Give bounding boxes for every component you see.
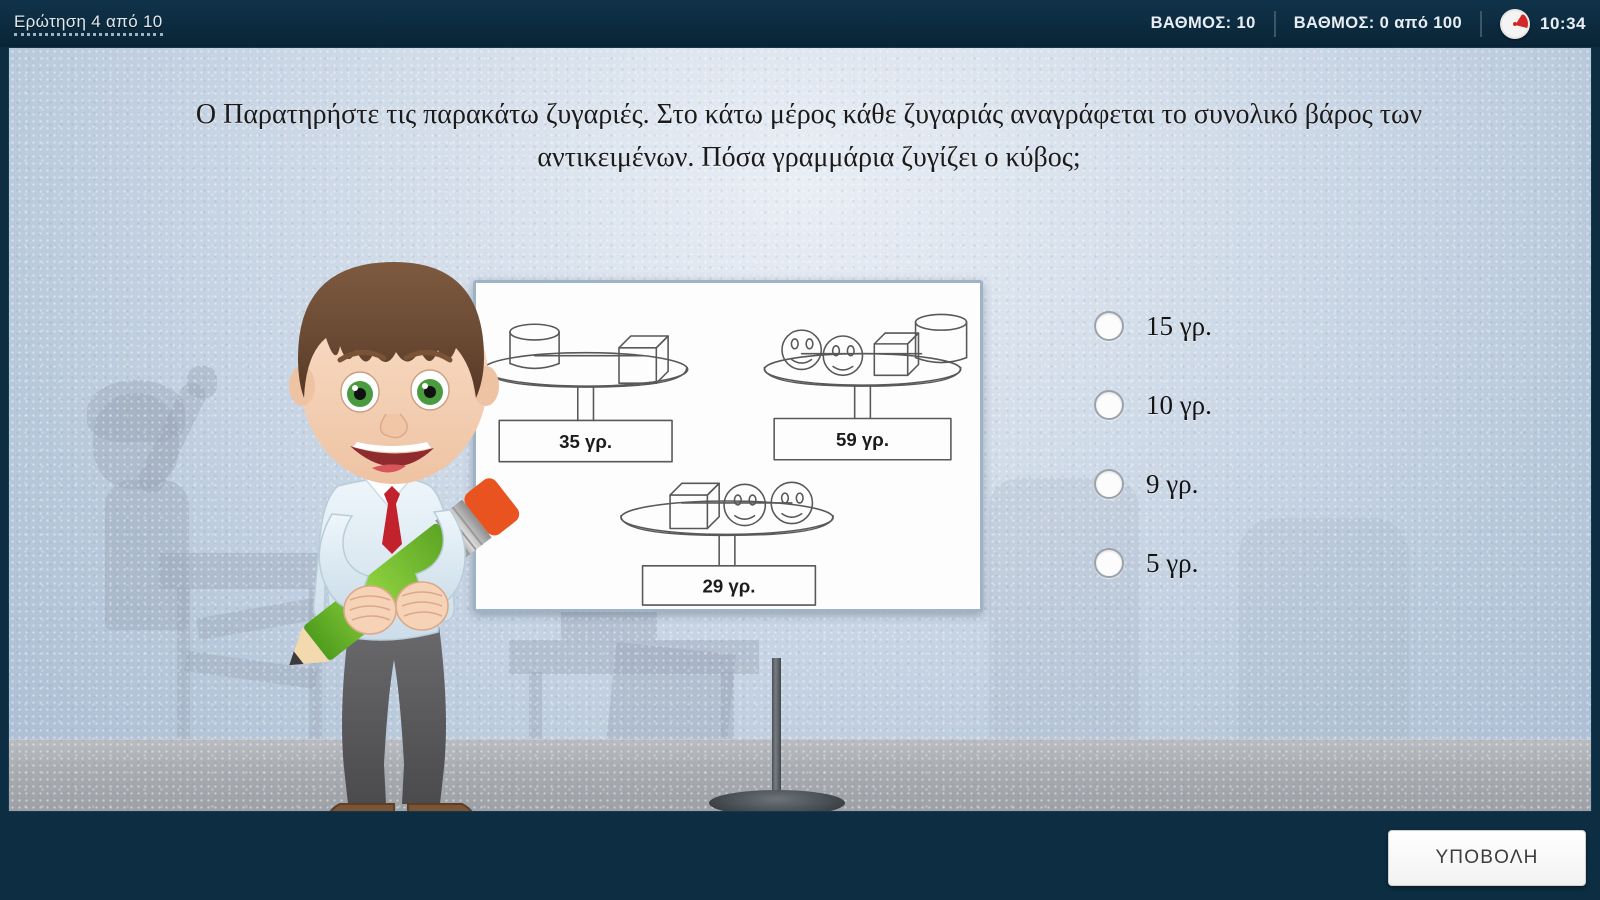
- answer-option-1-label: 15 γρ.: [1146, 311, 1212, 342]
- cube: [670, 483, 719, 528]
- answer-option-4[interactable]: 5 γρ.: [1094, 535, 1424, 591]
- answer-option-2-label: 10 γρ.: [1146, 390, 1212, 421]
- background-silhouette-desk: [509, 640, 759, 674]
- background-silhouette-student: [187, 366, 217, 398]
- question-text: Ο Παρατηρήστε τις παρακάτω ζυγαριές. Στο…: [159, 94, 1459, 179]
- radio-button-2[interactable]: [1094, 390, 1124, 420]
- answer-option-3-label: 9 γρ.: [1146, 469, 1198, 500]
- submit-button[interactable]: ΥΠΟΒΟΛΗ: [1388, 830, 1586, 886]
- answer-option-4-label: 5 γρ.: [1146, 548, 1198, 579]
- radio-button-4[interactable]: [1094, 548, 1124, 578]
- cartoon-boy-character: [254, 218, 544, 812]
- scale-2-weight-label: 59 γρ.: [836, 429, 889, 450]
- timer-value: 10:34: [1540, 14, 1586, 34]
- radio-button-1[interactable]: [1094, 311, 1124, 341]
- answer-option-2[interactable]: 10 γρ.: [1094, 377, 1424, 433]
- legs: [342, 618, 446, 804]
- ball: [782, 330, 821, 369]
- question-counter: Ερώτηση 4 από 10: [14, 12, 163, 36]
- whiteboard-diagram: 35 γρ. 59 γρ. 29 γρ.: [473, 280, 983, 612]
- timer-group: 10:34: [1482, 9, 1586, 39]
- cylinder: [916, 314, 967, 362]
- radio-button-3[interactable]: [1094, 469, 1124, 499]
- whiteboard-stand-pole: [772, 658, 781, 808]
- answer-option-1[interactable]: 15 γρ.: [1094, 298, 1424, 354]
- cube: [619, 336, 668, 383]
- answer-option-3[interactable]: 9 γρ.: [1094, 456, 1424, 512]
- shoes: [328, 804, 474, 812]
- ball: [724, 484, 765, 525]
- stopwatch-icon: [1500, 9, 1530, 39]
- top-status-bar: Ερώτηση 4 από 10 ΒΑΘΜΟΣ: 10 ΒΑΘΜΟΣ: 0 απ…: [0, 0, 1600, 47]
- scale-3-weight-label: 29 γρ.: [702, 575, 755, 596]
- total-score-label: ΒΑΘΜΟΣ: 0 από 100: [1276, 14, 1480, 33]
- ball: [823, 336, 862, 375]
- score-label: ΒΑΘΜΟΣ: 10: [1133, 14, 1274, 33]
- scale-1-weight-label: 35 γρ.: [559, 431, 612, 452]
- head: [289, 262, 499, 484]
- question-stage: Ο Παρατηρήστε τις παρακάτω ζυγαριές. Στο…: [8, 47, 1592, 812]
- header-right-group: ΒΑΘΜΟΣ: 10 ΒΑΘΜΟΣ: 0 από 100 10:34: [1133, 9, 1586, 39]
- balance-scales-drawing: 35 γρ. 59 γρ. 29 γρ.: [476, 283, 980, 609]
- whiteboard-stand-base: [709, 790, 845, 812]
- answer-options-list: 15 γρ. 10 γρ. 9 γρ. 5 γρ.: [1094, 298, 1424, 614]
